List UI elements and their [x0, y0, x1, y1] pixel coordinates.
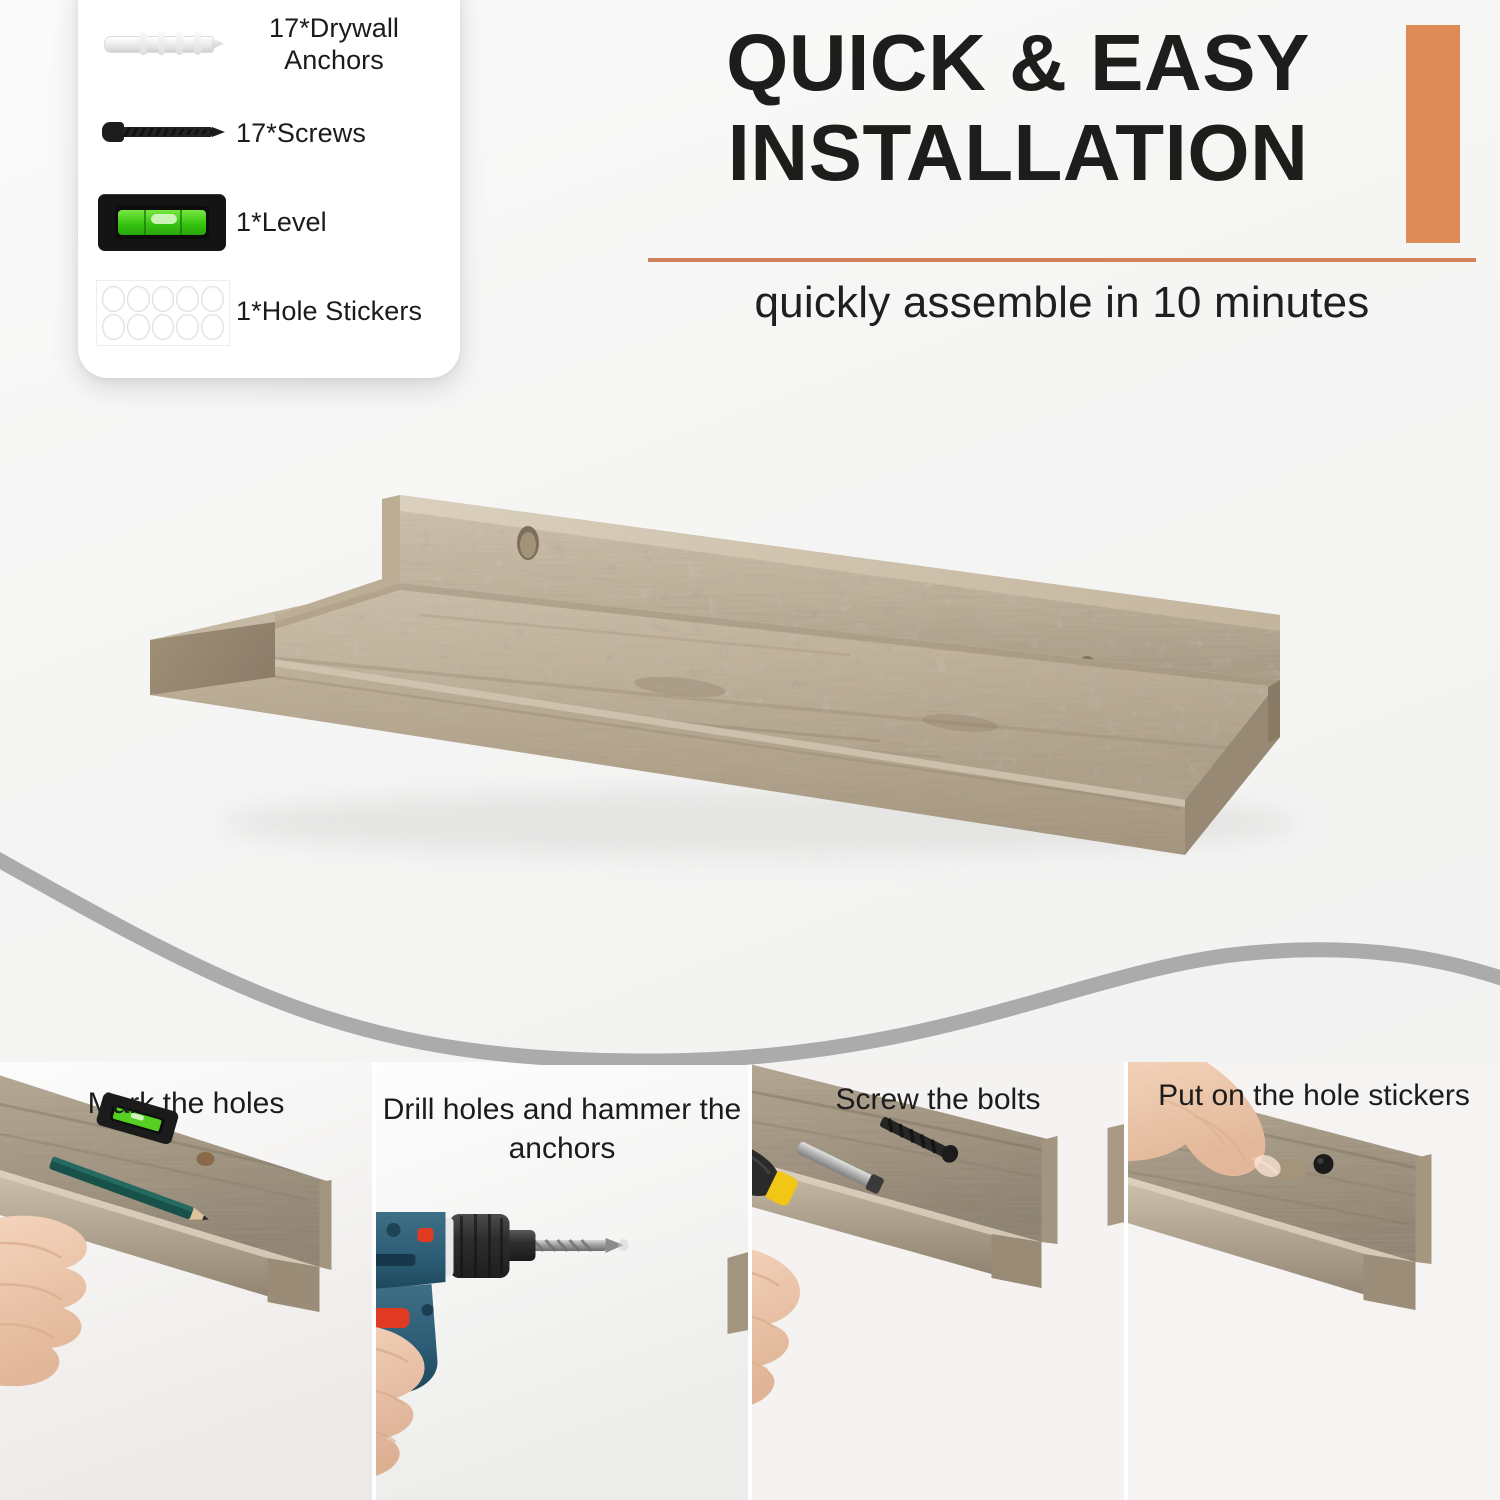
drywall-anchor-icon — [78, 0, 236, 89]
part-label: 17*Drywall Anchors — [236, 13, 440, 77]
parts-list-card: 17*Drywall Anchors 17*Screws — [78, 0, 460, 378]
step-panel-screw-bolts: Screw the bolts — [752, 1062, 1124, 1500]
part-label: 17*Screws — [236, 118, 374, 150]
part-row-level: 1*Level — [78, 178, 460, 267]
sticker-dot — [176, 314, 199, 340]
product-shelf-image — [120, 455, 1320, 885]
sticker-dot — [127, 314, 150, 340]
headline-block: QUICK & EASY INSTALLATION — [648, 18, 1476, 197]
headline-line-2: INSTALLATION — [648, 108, 1388, 198]
parts-list: 17*Drywall Anchors 17*Screws — [78, 0, 460, 356]
sticker-dot — [201, 286, 224, 312]
sticker-dot — [102, 286, 125, 312]
step-caption: Put on the hole stickers — [1128, 1076, 1500, 1115]
hole-stickers-icon — [78, 267, 236, 356]
step-panel-mark-holes: Mark the holes — [0, 1062, 372, 1500]
screw-icon — [78, 89, 236, 178]
sticker-dot — [152, 314, 175, 340]
part-label: 1*Hole Stickers — [236, 296, 430, 328]
headline-line-1: QUICK & EASY — [648, 18, 1388, 108]
sticker-dot — [152, 286, 175, 312]
part-row-screws: 17*Screws — [78, 89, 460, 178]
step-caption: Drill holes and hammer the anchors — [376, 1090, 748, 1168]
step-panel-drill-holes: Drill holes and hammer the anchors — [376, 1062, 748, 1500]
level-icon — [78, 178, 236, 267]
step-panel-hole-stickers: Put on the hole stickers — [1128, 1062, 1500, 1500]
sticker-dot — [127, 286, 150, 312]
headline-divider-rule — [648, 258, 1476, 262]
step-caption: Screw the bolts — [752, 1080, 1124, 1119]
infographic-canvas: 17*Drywall Anchors 17*Screws — [0, 0, 1500, 1500]
orange-accent-bar — [1406, 25, 1460, 243]
sticker-dot — [102, 314, 125, 340]
part-row-drywall-anchors: 17*Drywall Anchors — [78, 0, 460, 89]
hero-section: 17*Drywall Anchors 17*Screws — [0, 0, 1500, 1065]
step-caption: Mark the holes — [0, 1084, 372, 1123]
sticker-dot — [176, 286, 199, 312]
installation-steps: Mark the holes — [0, 1062, 1500, 1500]
wave-divider — [0, 845, 1500, 1065]
part-label: 1*Level — [236, 207, 335, 239]
sticker-dot — [201, 314, 224, 340]
part-row-hole-stickers: 1*Hole Stickers — [78, 267, 460, 356]
headline-subtitle: quickly assemble in 10 minutes — [648, 278, 1476, 328]
